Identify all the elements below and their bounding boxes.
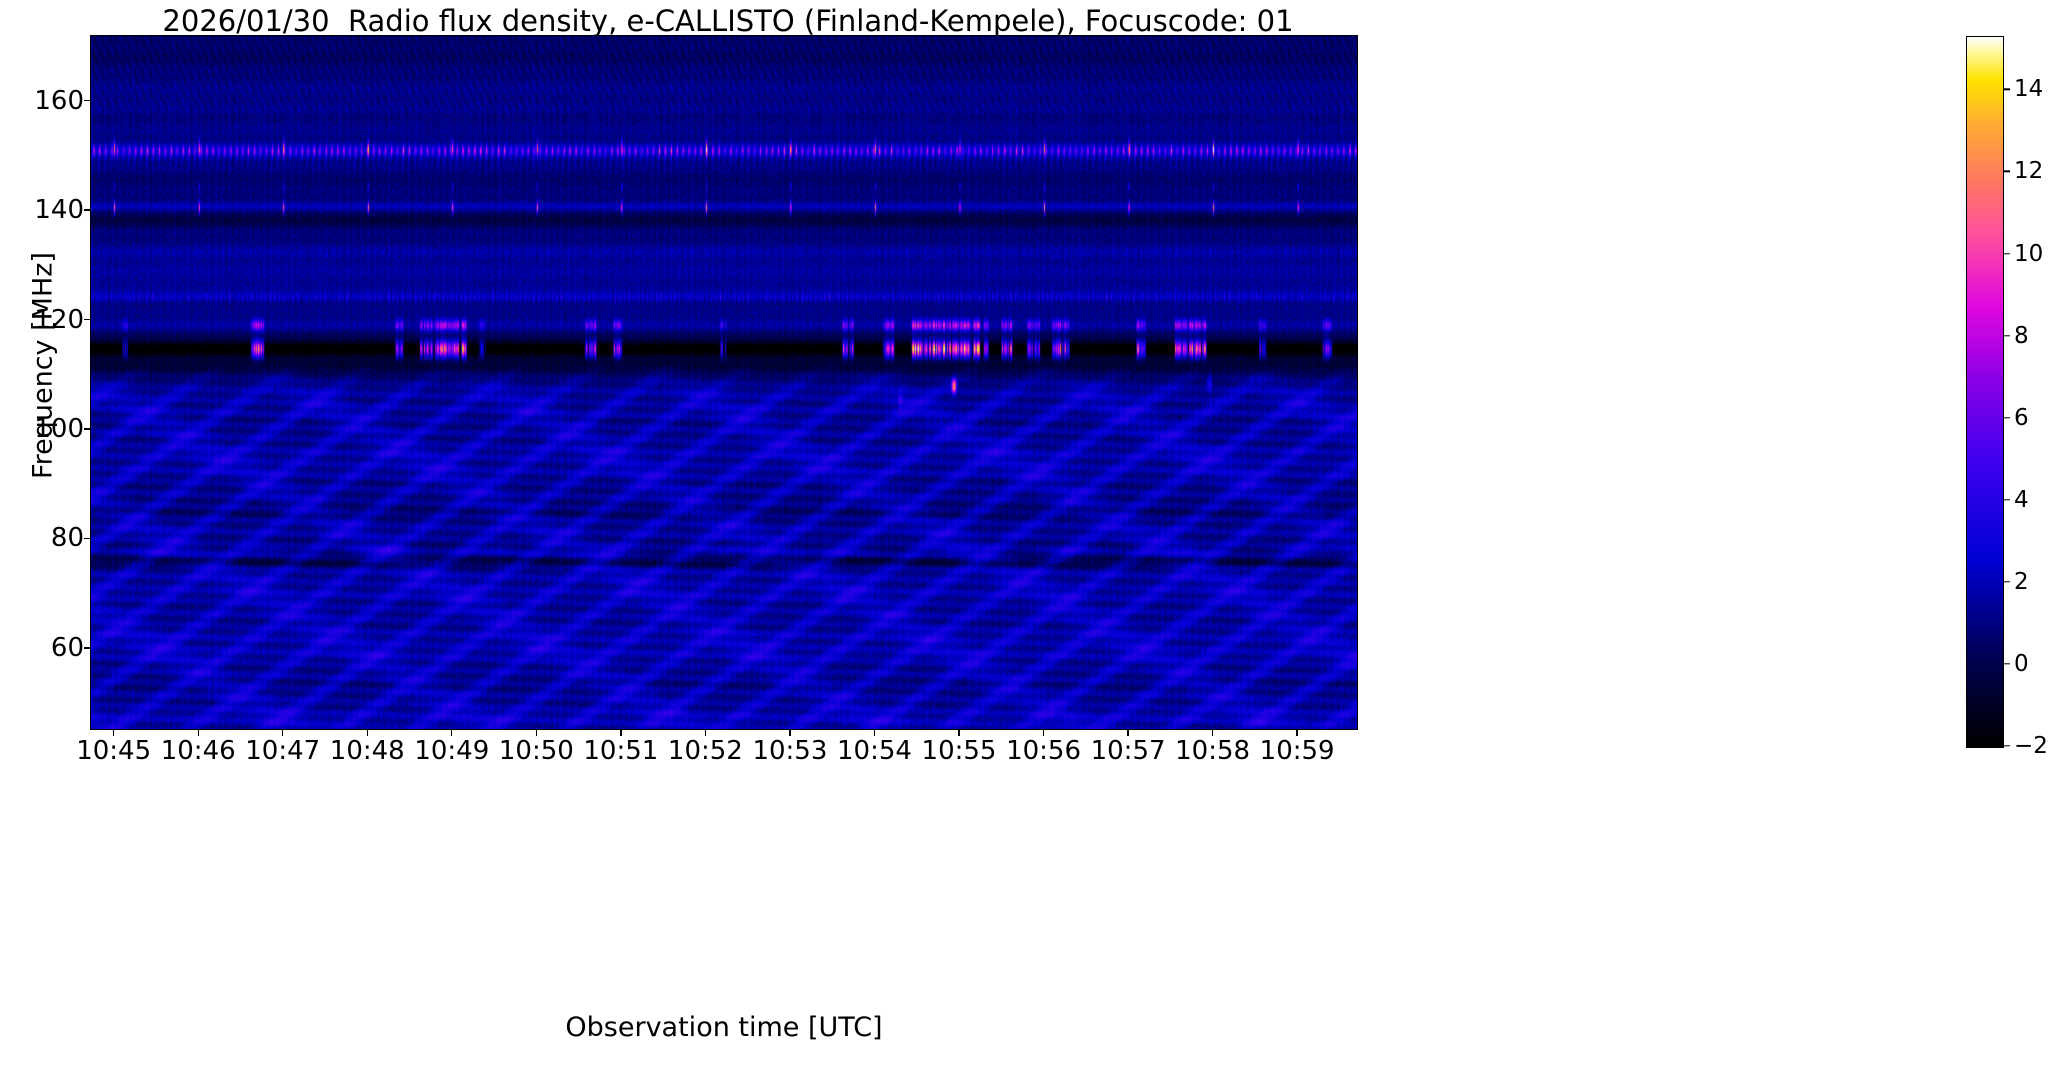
colorbar-gradient [1967,37,2003,747]
x-tick-label: 10:55 [922,736,997,766]
x-tick-label: 10:52 [668,736,743,766]
x-axis-label: Observation time [UTC] [90,1012,1358,1043]
x-tick-mark [536,730,537,736]
x-tick-mark [789,730,790,736]
colorbar-tick-label: 2 [2014,569,2029,595]
y-tick-mark [84,100,90,101]
colorbar-tick-mark [2004,253,2010,254]
spectrogram-figure: 2026/01/30 Radio flux density, e-CALLIST… [0,0,2066,1067]
colorbar-tick-label: 4 [2014,487,2029,513]
y-tick-label: 80 [0,523,84,553]
colorbar-tick-mark [2004,335,2010,336]
y-tick-label: 140 [0,195,84,225]
x-tick-label: 10:58 [1175,736,1250,766]
x-tick-mark [1127,730,1128,736]
x-tick-mark [1043,730,1044,736]
colorbar-tick-mark [2004,171,2010,172]
x-tick-label: 10:57 [1091,736,1166,766]
x-tick-mark [620,730,621,736]
y-tick-mark [84,209,90,210]
y-tick-label: 120 [0,305,84,335]
x-tick-mark [874,730,875,736]
y-tick-label: 100 [0,414,84,444]
colorbar-tick-mark [2004,581,2010,582]
x-tick-mark [705,730,706,736]
x-tick-label: 10:54 [837,736,912,766]
y-tick-mark [84,319,90,320]
x-tick-label: 10:51 [583,736,658,766]
x-tick-label: 10:47 [245,736,320,766]
y-tick-mark [84,647,90,648]
colorbar-tick-label: 6 [2014,405,2029,431]
colorbar-tick-mark [2004,499,2010,500]
colorbar-tick-label: 12 [2014,158,2043,184]
x-tick-mark [282,730,283,736]
y-tick-label: 60 [0,633,84,663]
colorbar-tick-label: 8 [2014,323,2029,349]
spectrogram-canvas [91,36,1358,730]
page-title: 2026/01/30 Radio flux density, e-CALLIST… [0,4,1456,38]
x-tick-label: 10:49 [414,736,489,766]
x-tick-label: 10:50 [499,736,574,766]
x-tick-mark [451,730,452,736]
y-axis-label: Frequency [MHz] [28,46,59,686]
x-tick-mark [198,730,199,736]
colorbar-tick-mark [2004,417,2010,418]
colorbar [1966,36,2004,748]
x-tick-label: 10:53 [752,736,827,766]
x-tick-mark [1296,730,1297,736]
colorbar-tick-mark [2004,89,2010,90]
x-tick-label: 10:45 [76,736,151,766]
colorbar-tick-label: 14 [2014,76,2043,102]
colorbar-tick-label: 0 [2014,651,2029,677]
x-tick-mark [113,730,114,736]
x-tick-label: 10:48 [330,736,405,766]
x-tick-mark [367,730,368,736]
y-tick-mark [84,538,90,539]
y-tick-label: 160 [0,86,84,116]
colorbar-tick-mark [2004,663,2010,664]
x-tick-mark [1212,730,1213,736]
spectrogram-plot-area [90,35,1358,730]
x-tick-label: 10:46 [161,736,236,766]
x-tick-label: 10:56 [1006,736,1081,766]
y-tick-mark [84,428,90,429]
colorbar-tick-mark [2004,745,2010,746]
colorbar-tick-label: 10 [2014,241,2043,267]
x-tick-mark [958,730,959,736]
colorbar-tick-label: −2 [2014,733,2048,759]
x-tick-label: 10:59 [1260,736,1335,766]
